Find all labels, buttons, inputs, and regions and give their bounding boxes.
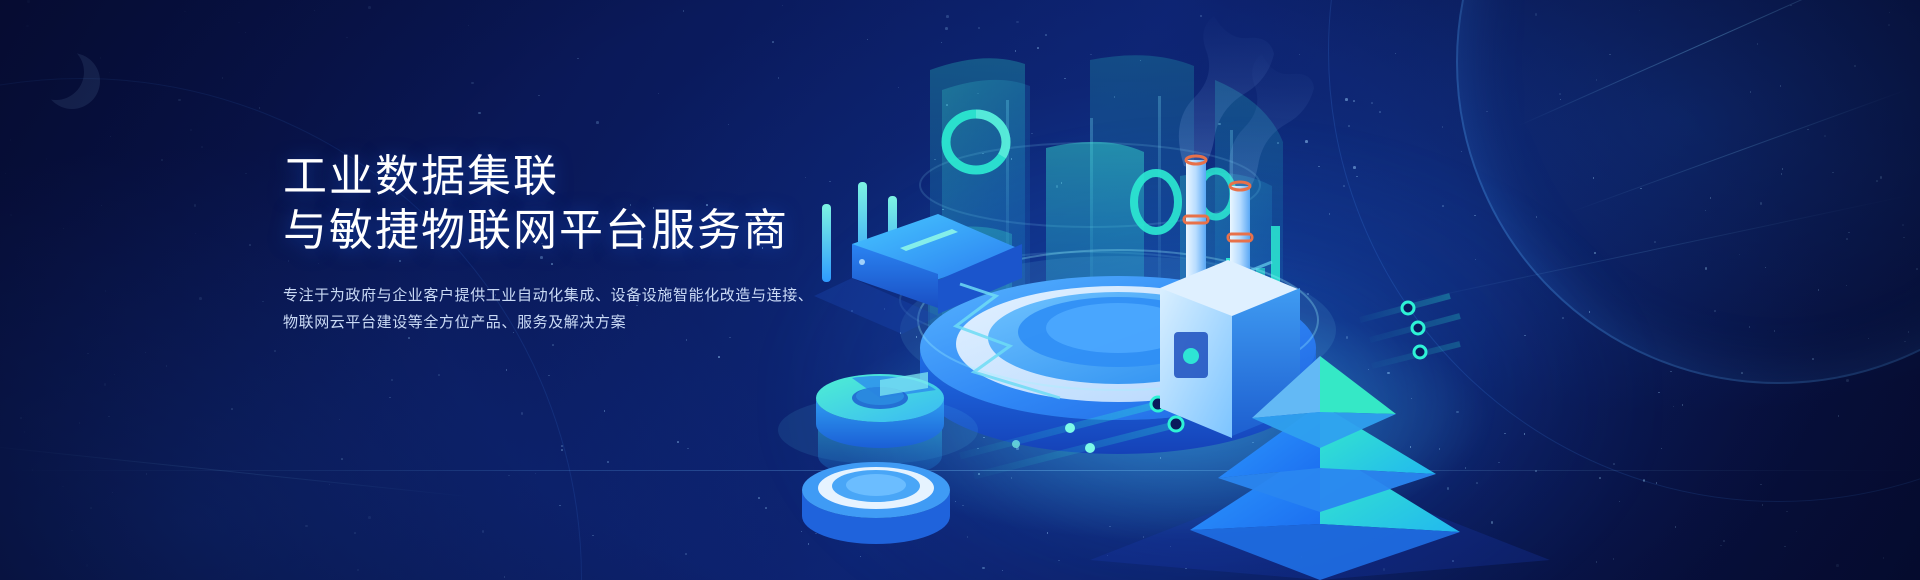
star xyxy=(368,516,371,519)
star xyxy=(259,107,261,109)
ring-platform-core xyxy=(846,474,906,496)
star xyxy=(195,233,197,235)
star xyxy=(32,469,34,471)
hero-illustration xyxy=(760,0,1920,580)
star xyxy=(274,350,276,352)
star xyxy=(368,6,371,9)
star xyxy=(506,369,508,371)
star xyxy=(112,492,114,494)
star xyxy=(24,431,26,433)
star xyxy=(87,353,89,355)
star xyxy=(346,37,348,39)
star xyxy=(90,507,92,509)
star xyxy=(685,553,687,555)
star xyxy=(178,99,181,102)
star xyxy=(231,408,233,410)
star xyxy=(245,173,247,175)
star xyxy=(561,445,563,447)
star xyxy=(577,58,579,60)
star xyxy=(552,344,554,346)
star xyxy=(686,339,688,341)
star xyxy=(10,139,12,141)
star xyxy=(201,146,203,148)
star xyxy=(559,505,561,507)
star xyxy=(222,77,224,79)
beam-pulse-3 xyxy=(1012,440,1020,448)
star xyxy=(478,112,481,115)
subtitle-line-2: 物联网云平台建设等全方位产品、服务及解决方案 xyxy=(283,309,903,336)
star xyxy=(728,124,730,126)
star xyxy=(391,379,394,382)
star xyxy=(339,419,341,421)
star xyxy=(245,32,247,34)
beam-node-4 xyxy=(1412,322,1424,334)
star xyxy=(521,412,524,415)
star xyxy=(438,374,440,376)
star xyxy=(199,297,202,300)
beam-pulse-1 xyxy=(1065,423,1075,433)
star xyxy=(596,121,599,124)
star xyxy=(109,72,111,74)
star xyxy=(190,129,192,131)
star xyxy=(79,422,81,424)
star xyxy=(357,569,360,572)
star xyxy=(184,11,186,13)
star xyxy=(718,356,720,358)
star xyxy=(408,337,410,339)
star xyxy=(20,417,22,419)
factory-indicator-light xyxy=(1183,348,1199,364)
star xyxy=(677,441,679,443)
hero-banner: 工业数据集联 与敏捷物联网平台服务商 专注于为政府与企业客户提供工业自动化集成、… xyxy=(0,0,1920,580)
small-ring-platform-icon xyxy=(802,462,950,544)
star xyxy=(108,416,110,418)
subtitle-line-1: 专注于为政府与企业客户提供工业自动化集成、设备设施智能化改造与连接、 xyxy=(283,282,903,309)
star xyxy=(592,535,594,537)
beam-node-3 xyxy=(1402,302,1414,314)
star xyxy=(262,301,264,303)
star xyxy=(62,486,64,488)
star xyxy=(86,564,89,567)
star xyxy=(471,82,474,85)
star xyxy=(607,461,610,464)
star xyxy=(27,0,30,3)
star xyxy=(249,244,251,246)
star xyxy=(71,530,73,532)
headline-line-2: 与敏捷物联网平台服务商 xyxy=(283,204,903,258)
star xyxy=(341,458,343,460)
star xyxy=(687,448,689,450)
star xyxy=(114,374,116,376)
star xyxy=(314,10,316,12)
star xyxy=(194,204,197,207)
star xyxy=(538,95,540,97)
star xyxy=(100,57,102,59)
star xyxy=(389,397,391,399)
star xyxy=(482,530,485,533)
star xyxy=(46,158,48,160)
star xyxy=(508,475,510,477)
star xyxy=(10,214,12,216)
star xyxy=(329,484,331,486)
star xyxy=(63,228,65,230)
star xyxy=(468,25,470,27)
star xyxy=(166,365,168,367)
star xyxy=(26,25,29,28)
star xyxy=(305,525,308,528)
star xyxy=(146,473,148,475)
star xyxy=(161,159,164,162)
star xyxy=(101,205,103,207)
star xyxy=(561,449,563,451)
beam-pulse-2 xyxy=(1085,443,1095,453)
headline-line-1: 工业数据集联 xyxy=(283,150,903,204)
star xyxy=(105,290,107,292)
beam-node-2 xyxy=(1169,417,1183,431)
star xyxy=(504,576,506,578)
star xyxy=(535,473,537,475)
star xyxy=(683,10,685,12)
light-streak-4 xyxy=(0,443,479,498)
star xyxy=(62,14,64,16)
star xyxy=(238,22,240,24)
moon-crescent-icon xyxy=(28,44,84,100)
star xyxy=(729,337,731,339)
star xyxy=(5,173,7,175)
hero-copy: 工业数据集联 与敏捷物联网平台服务商 专注于为政府与企业客户提供工业自动化集成、… xyxy=(283,150,903,336)
star xyxy=(145,352,147,354)
beam-node-5 xyxy=(1414,346,1426,358)
star xyxy=(104,383,107,386)
star xyxy=(658,93,660,95)
star xyxy=(604,410,606,412)
star xyxy=(354,532,356,534)
star xyxy=(548,375,550,377)
star xyxy=(31,554,33,556)
star xyxy=(110,136,112,138)
